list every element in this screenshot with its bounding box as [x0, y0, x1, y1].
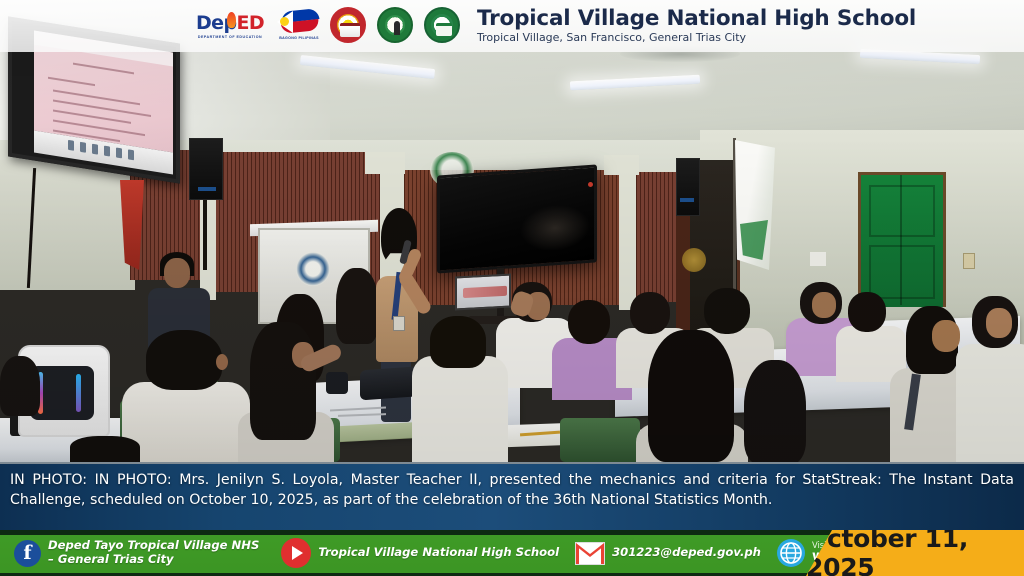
- student-face: [932, 320, 960, 352]
- facebook-line2: – General Trias City: [48, 553, 259, 567]
- small-bag: [326, 372, 348, 394]
- wall-paper-note: [810, 252, 826, 266]
- email-label: 301223@deped.gov.ph: [612, 546, 761, 560]
- caption-bar: IN PHOTO: IN PHOTO: Mrs. Jenilyn S. Loyo…: [0, 462, 1024, 530]
- student-hair: [704, 288, 750, 334]
- globe-glyph: [780, 542, 802, 564]
- deped-ed-text: ED: [236, 12, 264, 34]
- student-body: [122, 382, 250, 462]
- facebook-line1: Deped Tayo Tropical Village NHS: [48, 539, 259, 553]
- philippine-flag-logo: BAGONG PILIPINAS: [277, 9, 321, 43]
- student-hair: [648, 330, 734, 462]
- student: [336, 268, 378, 344]
- email-contact[interactable]: 301223@deped.gov.ph: [575, 542, 761, 565]
- page-subtitle: Tropical Village, San Francisco, General…: [477, 31, 916, 44]
- facebook-icon[interactable]: f: [14, 540, 41, 567]
- globe-icon[interactable]: [777, 539, 805, 567]
- student-hair: [250, 322, 316, 440]
- door-split: [900, 175, 902, 305]
- facebook-contact[interactable]: f Deped Tayo Tropical Village NHS – Gene…: [14, 539, 259, 566]
- wall-trim: [604, 155, 639, 175]
- seal-red-icon: [330, 7, 366, 43]
- header-bar: DepED DEPARTMENT OF EDUCATION BAGONG PIL…: [0, 0, 1024, 52]
- student-hair: [848, 292, 886, 332]
- school-seal-green-logo: [424, 7, 462, 45]
- student-hair: [744, 360, 806, 462]
- gold-seal-plaque: [682, 248, 706, 272]
- student-hair: [568, 300, 610, 344]
- adult-attendee-head: [164, 258, 190, 288]
- speaker-label: [198, 187, 216, 191]
- seal-school-icon: [424, 7, 460, 43]
- student-body: [956, 344, 1024, 462]
- speaker-label: [680, 198, 694, 202]
- gmail-glyph: [576, 543, 604, 564]
- youtube-icon[interactable]: [281, 538, 311, 568]
- date-badge: October 11, 2025: [806, 530, 1024, 576]
- wall-left: [0, 160, 135, 290]
- gmail-icon[interactable]: [575, 542, 605, 565]
- student-ear: [216, 354, 228, 370]
- student-hair: [70, 436, 140, 462]
- chair: [560, 418, 640, 462]
- light-switch: [963, 253, 975, 269]
- page-title: Tropical Village National High School: [477, 8, 916, 31]
- speaker-id-card: [393, 316, 405, 331]
- bagong-pilipinas-text: BAGONG PILIPINAS: [277, 36, 321, 40]
- student-body: [412, 356, 508, 462]
- wall-trim: [365, 152, 405, 174]
- facebook-label: Deped Tayo Tropical Village NHS – Genera…: [48, 539, 259, 566]
- student-hair: [430, 316, 486, 368]
- deped-tagline: DEPARTMENT OF EDUCATION: [198, 35, 262, 39]
- student-face: [812, 292, 836, 318]
- caption-text: IN PHOTO: IN PHOTO: Mrs. Jenilyn S. Loyo…: [10, 471, 1014, 511]
- loudspeaker: [676, 158, 700, 216]
- seal-green-icon: [377, 7, 413, 43]
- student-hair: [146, 330, 222, 390]
- youtube-contact[interactable]: Tropical Village National High School: [281, 538, 559, 568]
- flag-shape-icon: [277, 9, 321, 35]
- poster-root: DepED DEPARTMENT OF EDUCATION BAGONG PIL…: [0, 0, 1024, 576]
- green-door: [858, 172, 946, 307]
- torch-flame-icon: [227, 12, 236, 28]
- podium-seal: [296, 252, 330, 286]
- city-seal-green-logo: [377, 7, 415, 45]
- student: [0, 356, 40, 416]
- laptop: [455, 274, 511, 311]
- tv-power-led: [588, 182, 593, 187]
- student-face: [986, 308, 1012, 338]
- event-photo: [0, 0, 1024, 462]
- student-hair: [630, 292, 670, 334]
- deped-logo: DepED DEPARTMENT OF EDUCATION: [192, 9, 268, 43]
- header-text-block: Tropical Village National High School Tr…: [477, 8, 916, 45]
- youtube-label: Tropical Village National High School: [318, 546, 559, 560]
- division-seal-red-logo: [330, 7, 368, 45]
- rgb-light: [76, 374, 81, 412]
- wall-trim: [619, 170, 636, 310]
- date-text: October 11, 2025: [806, 530, 1024, 576]
- footer-bar: f Deped Tayo Tropical Village NHS – Gene…: [0, 530, 1024, 576]
- tv-reflection: [520, 203, 590, 254]
- speaker-stand: [203, 200, 207, 270]
